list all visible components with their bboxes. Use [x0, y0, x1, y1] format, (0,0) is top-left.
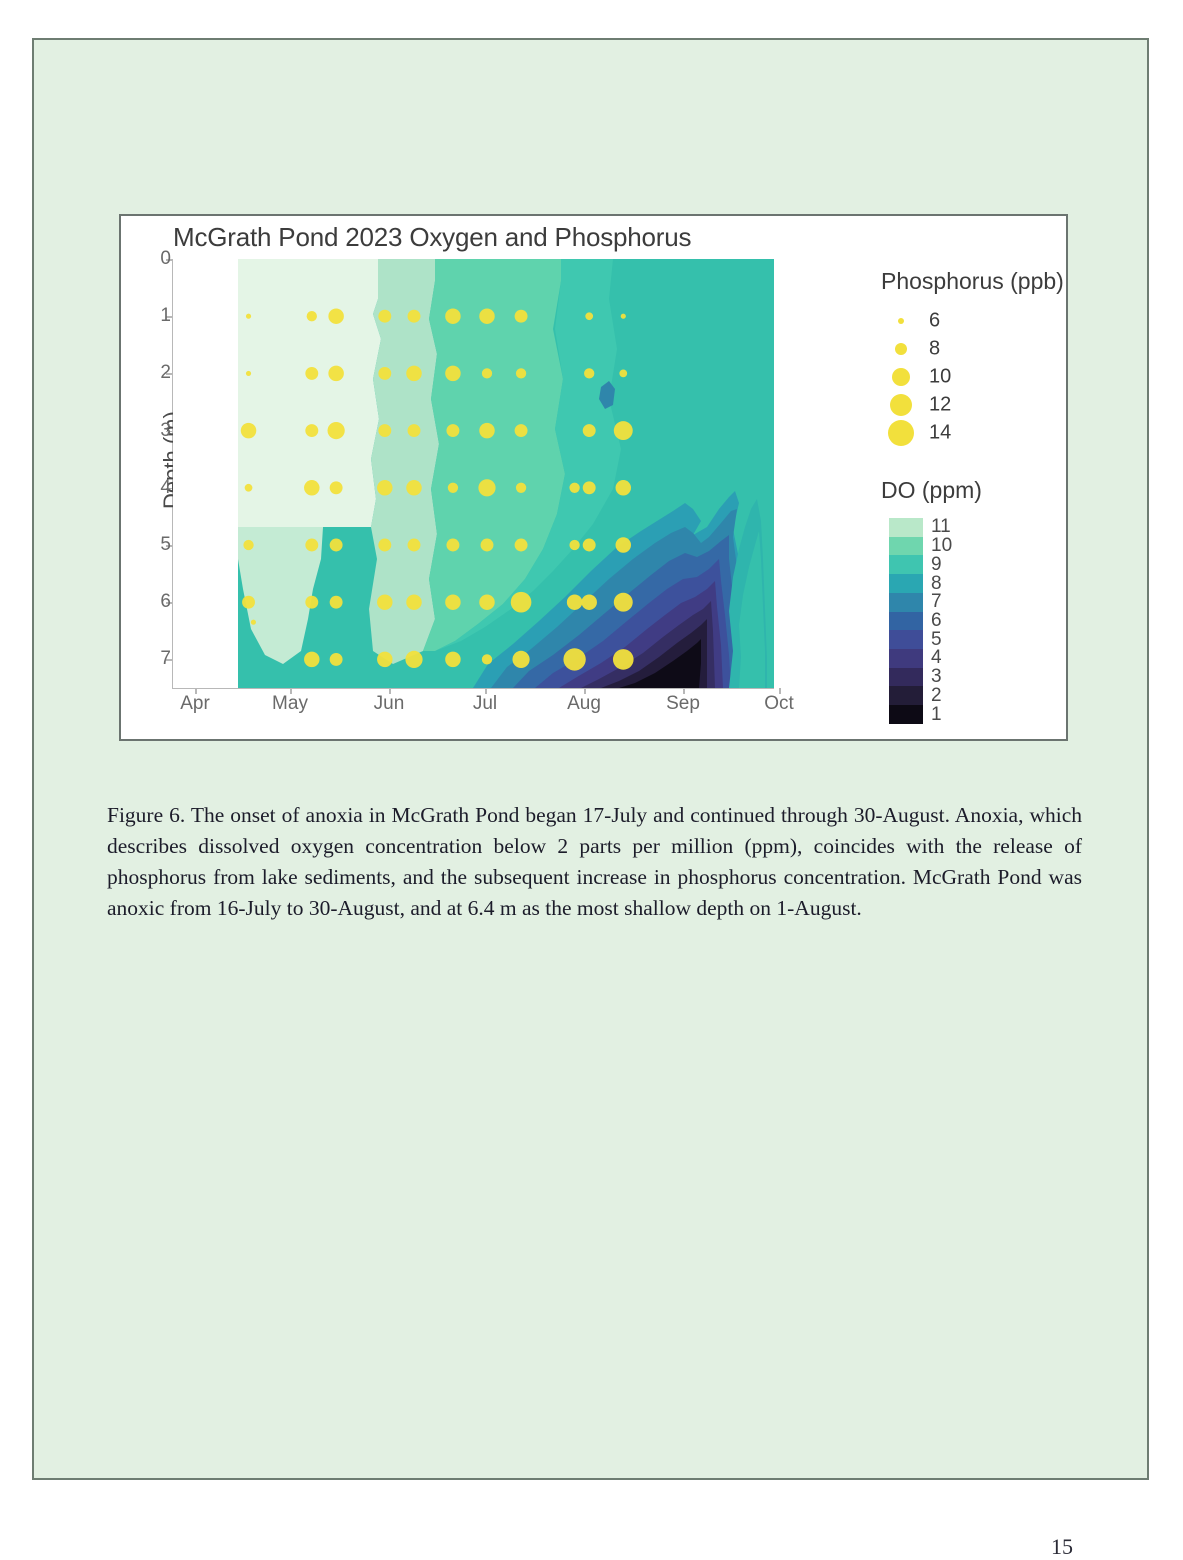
- y-tick-label: 6: [160, 591, 171, 613]
- figure-caption: Figure 6. The onset of anoxia in McGrath…: [107, 800, 1082, 924]
- do-colorbar-segment: [889, 705, 923, 724]
- phosphorus-legend-row: 10: [881, 363, 1068, 391]
- phosphorus-bubble: [482, 654, 492, 664]
- phosphorus-legend-dot-icon: [888, 420, 914, 446]
- phosphorus-bubble: [569, 483, 579, 493]
- phosphorus-bubble: [305, 539, 318, 552]
- chart-title: McGrath Pond 2023 Oxygen and Phosphorus: [173, 222, 691, 253]
- phosphorus-bubble: [445, 308, 460, 323]
- phosphorus-legend-items: 68101214: [881, 307, 1068, 447]
- phosphorus-bubble: [241, 423, 256, 438]
- phosphorus-bubble: [406, 594, 421, 609]
- phosphorus-bubble: [408, 310, 421, 323]
- phosphorus-bubble: [479, 594, 494, 609]
- phosphorus-bubble: [445, 366, 460, 381]
- phosphorus-bubble: [563, 648, 585, 670]
- phosphorus-legend-label: 8: [929, 338, 940, 361]
- phosphorus-bubble: [328, 308, 343, 323]
- phosphorus-bubble: [242, 596, 255, 609]
- phosphorus-legend-label: 10: [929, 366, 951, 389]
- phosphorus-bubble: [246, 314, 251, 319]
- phosphorus-bubble: [377, 480, 392, 495]
- do-colorbar-wrap: 1110987654321: [881, 518, 1068, 724]
- phosphorus-bubble: [246, 371, 251, 376]
- do-colorbar-legend: DO (ppm) 1110987654321: [881, 477, 1068, 724]
- do-colorbar-segment: [889, 686, 923, 705]
- phosphorus-legend-dot-icon: [892, 368, 910, 386]
- phosphorus-legend-dot-icon: [895, 343, 907, 355]
- y-tick-label: 2: [160, 362, 171, 384]
- phosphorus-legend-row: 12: [881, 391, 1068, 419]
- plot-area: Depth (m): [173, 259, 774, 688]
- phosphorus-bubble: [328, 366, 343, 381]
- phosphorus-bubble: [583, 424, 596, 437]
- do-colorbar-segment: [889, 555, 923, 574]
- y-tick-label: 3: [160, 420, 171, 442]
- phosphorus-bubble: [516, 368, 526, 378]
- phosphorus-bubble: [330, 596, 343, 609]
- phosphorus-bubble: [377, 594, 392, 609]
- phosphorus-bubble: [619, 370, 627, 378]
- do-colorbar: [889, 518, 923, 724]
- phosphorus-legend-dot-icon: [898, 318, 904, 324]
- x-tick-label: May: [272, 693, 308, 715]
- x-tick-label: Jun: [374, 693, 405, 715]
- phosphorus-bubble: [448, 483, 458, 493]
- phosphorus-bubble: [616, 537, 631, 552]
- figure-image: McGrath Pond 2023 Oxygen and Phosphorus …: [119, 214, 1068, 741]
- phosphorus-bubble: [581, 594, 596, 609]
- phosphorus-legend-dot-icon: [890, 394, 912, 416]
- phosphorus-bubble: [567, 594, 582, 609]
- phosphorus-bubble: [330, 539, 343, 552]
- phosphorus-bubble: [479, 308, 494, 323]
- phosphorus-bubble: [511, 592, 532, 613]
- phosphorus-bubble: [569, 540, 579, 550]
- heatmap-canvas: [173, 259, 774, 688]
- phosphorus-bubble: [245, 484, 253, 492]
- do-colorbar-segment: [889, 537, 923, 556]
- phosphorus-bubble: [378, 539, 391, 552]
- do-colorbar-segment: [889, 612, 923, 631]
- do-legend-title: DO (ppm): [881, 477, 1068, 504]
- do-colorbar-segment: [889, 668, 923, 687]
- phosphorus-bubble: [516, 483, 526, 493]
- phosphorus-bubble: [515, 539, 528, 552]
- phosphorus-bubble: [305, 424, 318, 437]
- y-tick-label: 0: [160, 248, 171, 270]
- x-tick-label: Oct: [764, 693, 794, 715]
- phosphorus-bubble: [378, 424, 391, 437]
- phosphorus-bubble: [616, 480, 631, 495]
- phosphorus-bubble: [251, 620, 256, 625]
- y-tick-label: 7: [160, 648, 171, 670]
- phosphorus-bubble: [330, 481, 343, 494]
- do-colorbar-segment: [889, 630, 923, 649]
- x-tick-label: Sep: [666, 693, 700, 715]
- phosphorus-bubble: [405, 651, 422, 668]
- x-tick-label: Aug: [567, 693, 601, 715]
- phosphorus-bubble: [406, 480, 421, 495]
- phosphorus-bubble: [377, 652, 392, 667]
- do-colorbar-segment: [889, 649, 923, 668]
- phosphorus-bubble: [328, 422, 345, 439]
- phosphorus-bubble: [330, 653, 343, 666]
- phosphorus-bubble: [408, 539, 421, 552]
- phosphorus-bubble: [305, 596, 318, 609]
- phosphorus-legend-label: 6: [929, 310, 940, 333]
- phosphorus-legend-row: 8: [881, 335, 1068, 363]
- do-colorbar-label: 1: [931, 704, 942, 726]
- phosphorus-bubble: [406, 366, 421, 381]
- phosphorus-bubble: [478, 479, 495, 496]
- phosphorus-bubble: [378, 367, 391, 380]
- phosphorus-legend-row: 14: [881, 419, 1068, 447]
- do-colorbar-segment: [889, 593, 923, 612]
- document-page: McGrath Pond 2023 Oxygen and Phosphorus …: [32, 38, 1149, 1480]
- phosphorus-bubble: [408, 424, 421, 437]
- phosphorus-bubble: [583, 539, 596, 552]
- phosphorus-bubble: [482, 368, 492, 378]
- y-tick-label: 5: [160, 534, 171, 556]
- page-number: 15: [34, 1534, 1151, 1560]
- phosphorus-bubble: [304, 480, 319, 495]
- do-colorbar-segment: [889, 518, 923, 537]
- phosphorus-bubble: [446, 539, 459, 552]
- phosphorus-bubble: [583, 481, 596, 494]
- x-tick-label: Apr: [180, 693, 210, 715]
- phosphorus-bubble: [515, 424, 528, 437]
- phosphorus-legend-row: 6: [881, 307, 1068, 335]
- phosphorus-bubble: [621, 314, 626, 319]
- phosphorus-bubble: [243, 540, 253, 550]
- phosphorus-bubble: [305, 367, 318, 380]
- phosphorus-bubble: [614, 593, 633, 612]
- phosphorus-bubble: [613, 649, 634, 670]
- phosphorus-bubble: [445, 652, 460, 667]
- do-colorbar-segment: [889, 574, 923, 593]
- y-tick-label: 1: [160, 305, 171, 327]
- phosphorus-bubble: [446, 424, 459, 437]
- phosphorus-bubble: [304, 652, 319, 667]
- phosphorus-bubble: [585, 312, 593, 320]
- phosphorus-legend-label: 12: [929, 394, 951, 417]
- phosphorus-bubble: [512, 651, 529, 668]
- y-tick-label: 4: [160, 477, 171, 499]
- chart-legends: Phosphorus (ppb) 68101214 DO (ppm) 11109…: [881, 268, 1068, 724]
- phosphorus-bubble: [515, 310, 528, 323]
- x-tick-label: Jul: [473, 693, 497, 715]
- phosphorus-bubble-layer: [173, 259, 774, 688]
- phosphorus-legend-label: 14: [929, 422, 951, 445]
- phosphorus-bubble: [481, 539, 494, 552]
- phosphorus-bubble: [307, 311, 317, 321]
- phosphorus-legend-title: Phosphorus (ppb): [881, 268, 1068, 295]
- phosphorus-bubble: [479, 423, 494, 438]
- phosphorus-bubble: [445, 594, 460, 609]
- phosphorus-bubble: [378, 310, 391, 323]
- phosphorus-bubble: [584, 368, 594, 378]
- phosphorus-bubble: [614, 421, 633, 440]
